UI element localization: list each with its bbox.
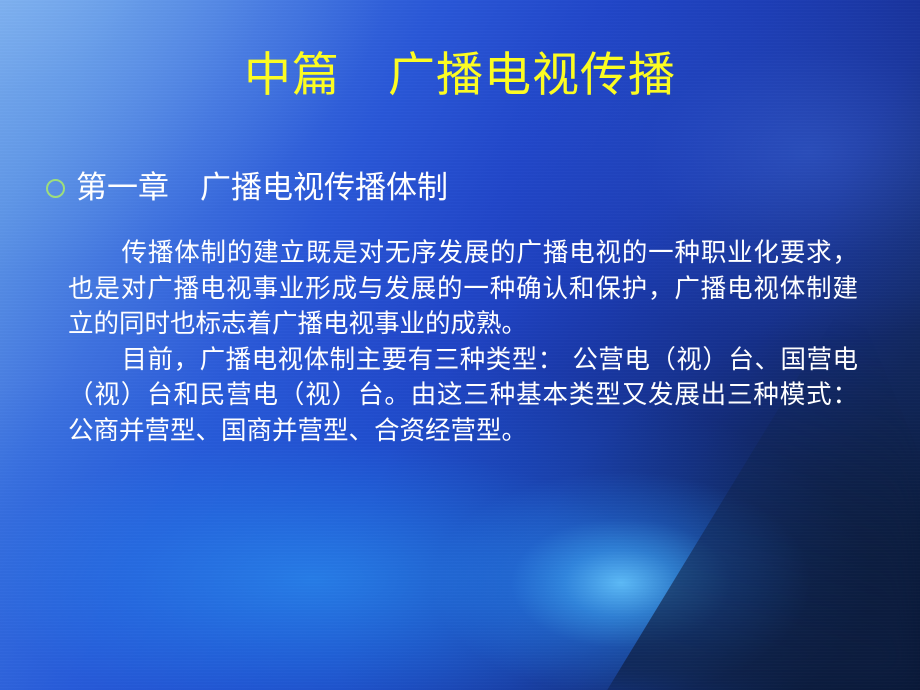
slide-content: 中篇 广播电视传播 第一章 广播电视传播体制 传播体制的建立既是对无序发展的广播… — [0, 0, 920, 690]
slide-title: 中篇 广播电视传播 — [0, 52, 920, 99]
body-text-block: 传播体制的建立既是对无序发展的广播电视的一种职业化要求，也是对广播电视事业形成与… — [68, 236, 858, 450]
section-heading-row: 第一章 广播电视传播体制 — [46, 172, 448, 205]
presentation-slide: 中篇 广播电视传播 第一章 广播电视传播体制 传播体制的建立既是对无序发展的广播… — [0, 0, 920, 690]
section-heading-label: 第一章 广播电视传播体制 — [76, 172, 448, 205]
body-paragraph: 传播体制的建立既是对无序发展的广播电视的一种职业化要求，也是对广播电视事业形成与… — [68, 236, 858, 343]
circle-outline-bullet-icon — [46, 179, 65, 198]
body-paragraph: 目前，广播电视体制主要有三种类型： 公营电（视）台、国营电（视）台和民营电（视）… — [68, 343, 858, 450]
